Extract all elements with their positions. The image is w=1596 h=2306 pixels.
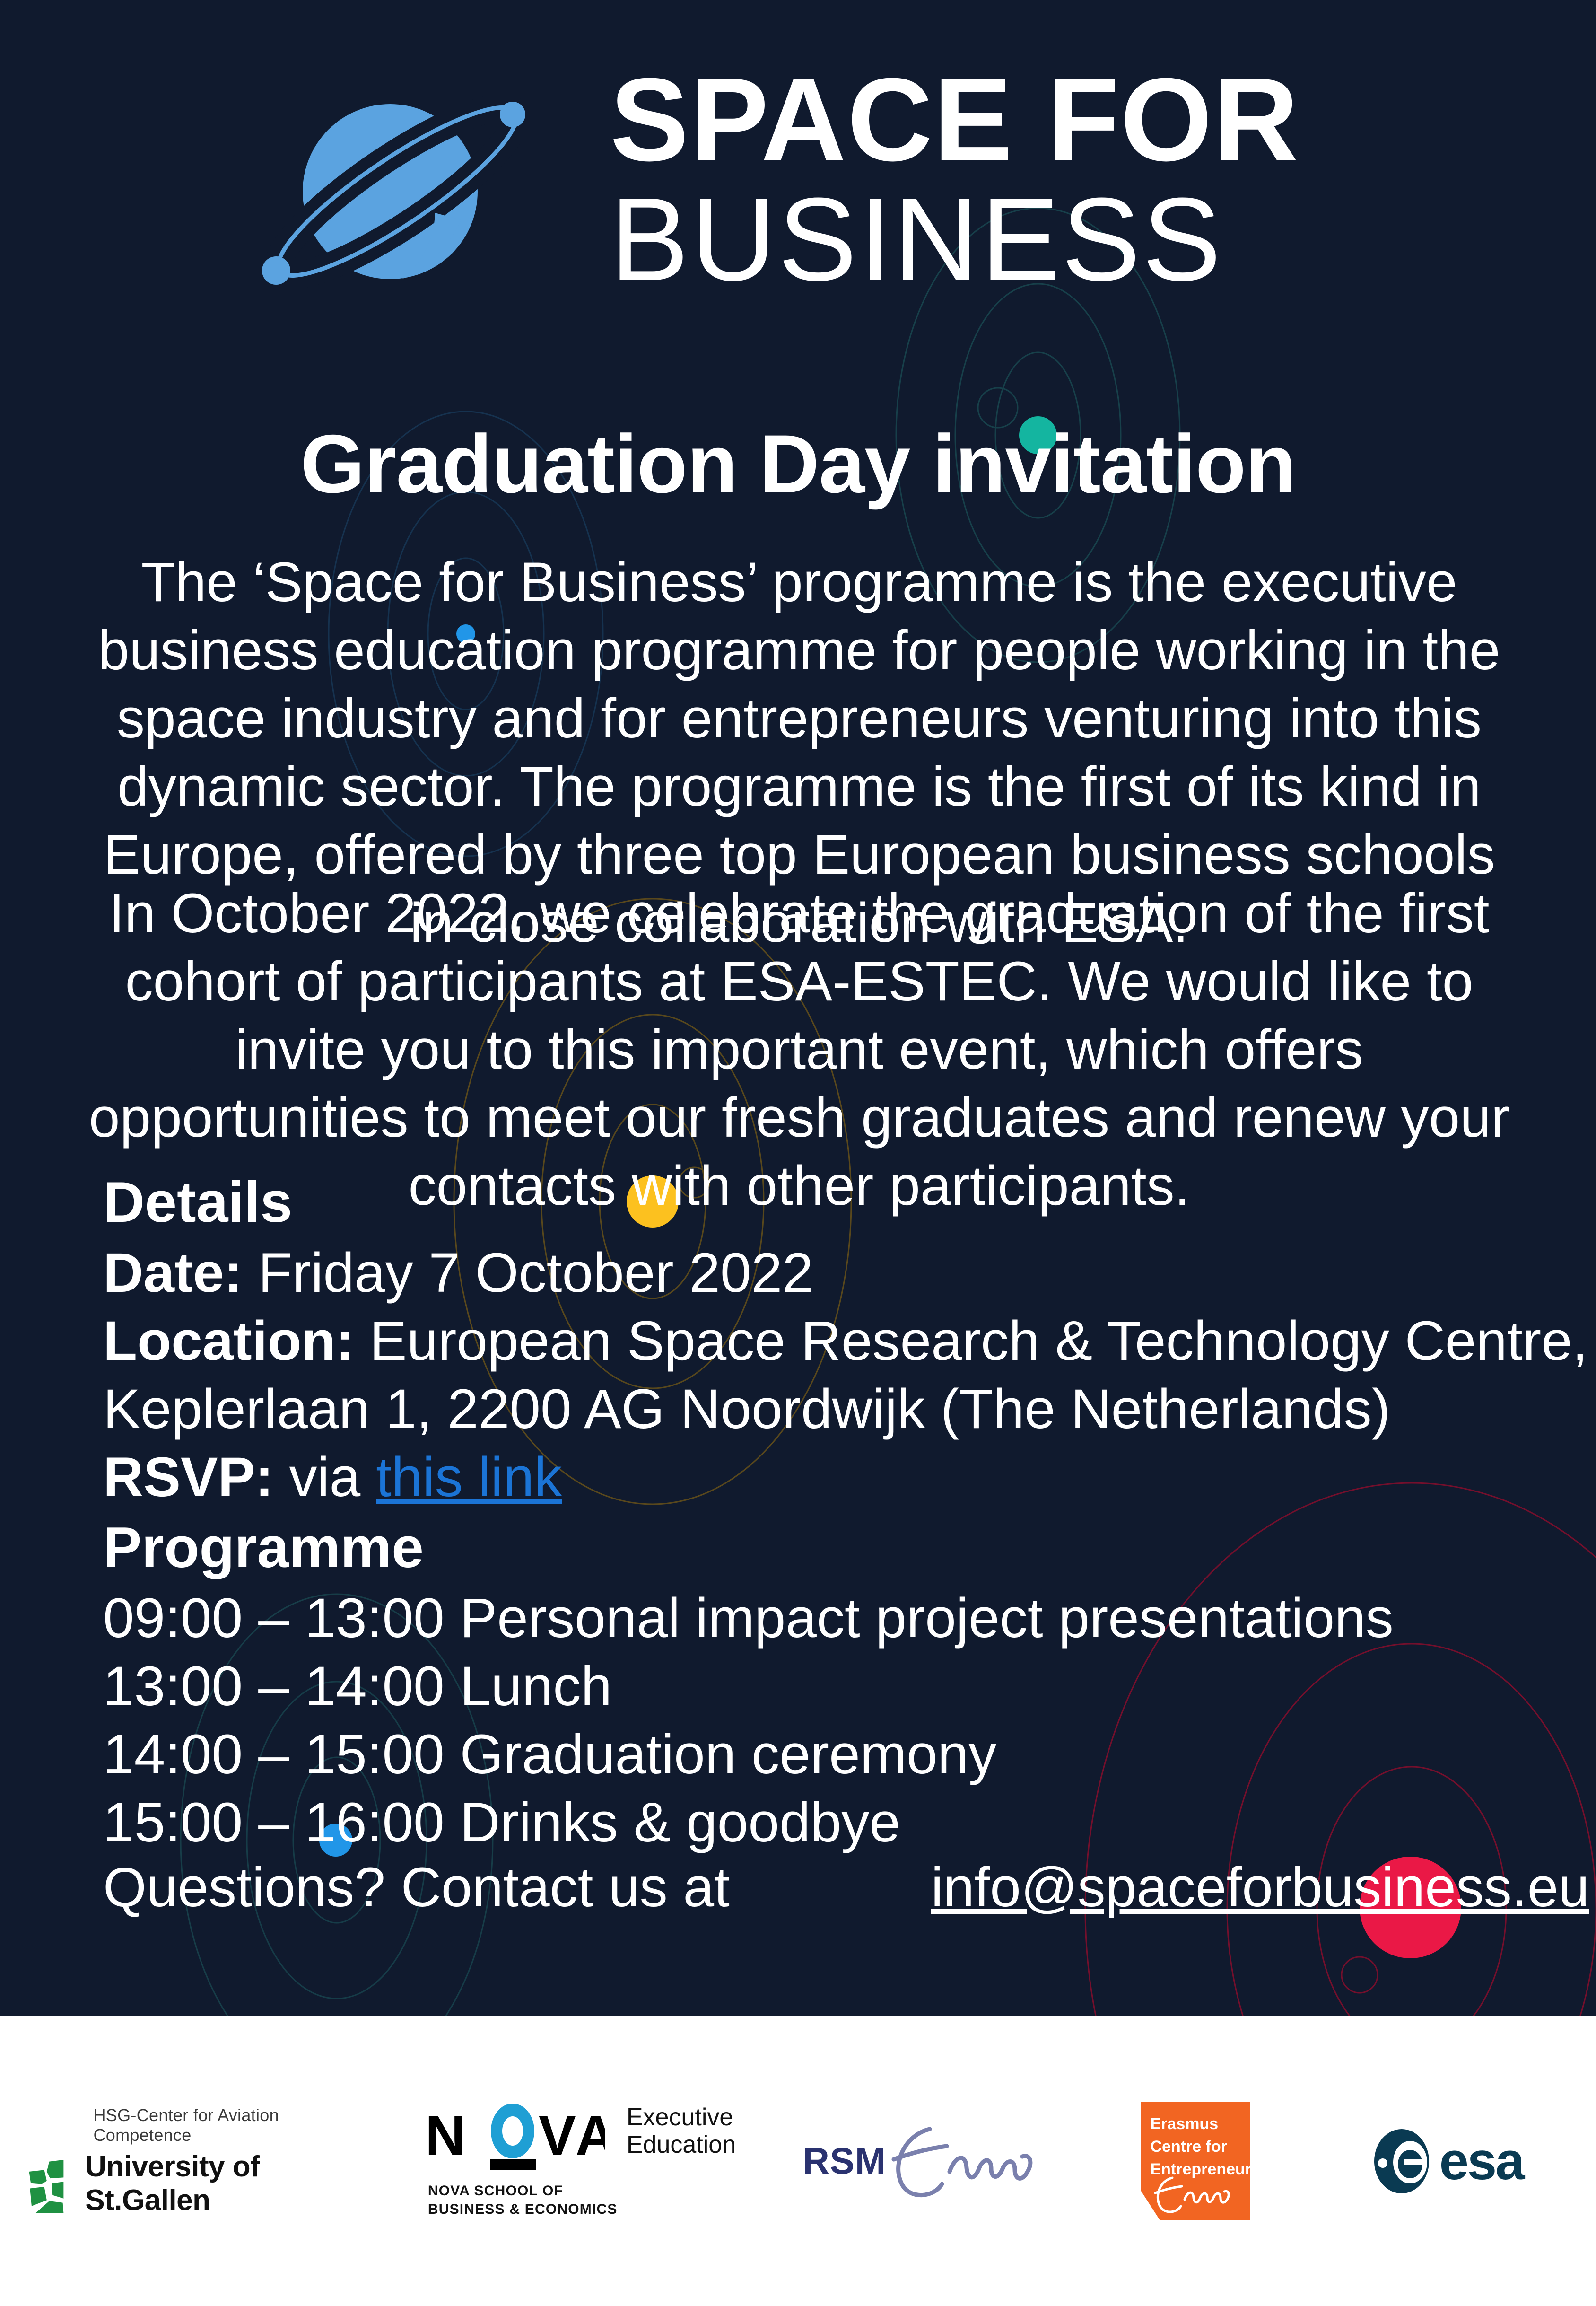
dark-background-panel: SPACE FOR BUSINESS Graduation Day invita… xyxy=(0,0,1596,2016)
ecfe-line-3: Entrepreneurship xyxy=(1151,2158,1284,2181)
programme-section: Programme 09:00 – 13:00 Personal impact … xyxy=(103,1514,1394,1857)
details-rsvp-row: RSVP: via this link xyxy=(103,1444,1588,1512)
st-gallen-bear-icon xyxy=(27,2156,77,2217)
contact-email-link[interactable]: info@spaceforbusiness.eu xyxy=(931,1856,1589,1919)
details-location-label: Location: xyxy=(103,1310,354,1372)
rsvp-link[interactable]: this link xyxy=(376,1446,562,1508)
brand-logo: SPACE FOR BUSINESS xyxy=(246,47,1381,331)
nova-sub-line-1: NOVA SCHOOL OF xyxy=(428,2182,736,2200)
details-section: Details Date: Friday 7 October 2022 Loca… xyxy=(103,1168,1588,1512)
brand-line-2: BUSINESS xyxy=(610,184,1299,295)
contact-prompt: Questions? Contact us at xyxy=(103,1856,730,1919)
programme-item: 09:00 – 13:00 Personal impact project pr… xyxy=(103,1585,1394,1653)
logo-esa: esa xyxy=(1323,2128,1569,2194)
logo-erasmus-centre-for-entrepreneurship: Erasmus Centre for Entrepreneurship xyxy=(1125,2102,1266,2220)
ecfe-line-1: Erasmus xyxy=(1151,2113,1284,2135)
logo-rsm-erasmus: RSM xyxy=(803,2119,1068,2204)
programme-item: 15:00 – 16:00 Drinks & goodbye xyxy=(103,1789,1394,1857)
details-rsvp-label: RSVP: xyxy=(103,1446,274,1508)
nova-wordmark-icon: N V A xyxy=(425,2104,605,2174)
hsg-name: University of St.Gallen xyxy=(85,2150,358,2217)
brand-line-1: SPACE FOR xyxy=(610,64,1299,175)
svg-text:V: V xyxy=(539,2104,576,2167)
nova-sub-line-2: BUSINESS & ECONOMICS xyxy=(428,2200,736,2218)
logo-university-of-st-gallen: HSG-Center for Aviation Competence Unive… xyxy=(27,2105,358,2217)
svg-text:N: N xyxy=(425,2104,465,2167)
programme-item: 13:00 – 14:00 Lunch xyxy=(103,1653,1394,1721)
svg-text:A: A xyxy=(576,2104,605,2167)
details-location-value: European Space Research & Technology Cen… xyxy=(370,1310,1588,1372)
details-date-row: Date: Friday 7 October 2022 xyxy=(103,1239,1588,1307)
nova-side-line-1: Executive xyxy=(627,2104,736,2131)
logo-nova-sbe: N V A Executive Education NOV xyxy=(415,2104,746,2218)
partner-logo-bar: HSG-Center for Aviation Competence Unive… xyxy=(0,2016,1596,2306)
esa-wordmark: esa xyxy=(1439,2135,1524,2188)
esa-globe-icon xyxy=(1369,2128,1435,2194)
programme-item: 14:00 – 15:00 Graduation ceremony xyxy=(103,1721,1394,1789)
page-title: Graduation Day invitation xyxy=(0,421,1596,508)
ecfe-line-2: Centre for xyxy=(1151,2135,1284,2158)
details-date-value: Friday 7 October 2022 xyxy=(258,1242,813,1304)
poster-root: SPACE FOR BUSINESS Graduation Day invita… xyxy=(0,0,1596,2306)
erasmus-script-icon xyxy=(886,2119,1042,2204)
details-location-value-2: Keplerlaan 1, 2200 AG Noordwijk (The Net… xyxy=(103,1378,1390,1440)
planet-orbit-icon xyxy=(246,57,549,322)
details-date-label: Date: xyxy=(103,1242,243,1304)
details-location-row-2: Keplerlaan 1, 2200 AG Noordwijk (The Net… xyxy=(103,1376,1588,1444)
details-rsvp-prefix: via xyxy=(289,1446,360,1508)
contact-row: Questions? Contact us at info@spaceforbu… xyxy=(103,1854,1589,1921)
details-location-row: Location: European Space Research & Tech… xyxy=(103,1307,1588,1376)
hsg-caption: HSG-Center for Aviation Competence xyxy=(94,2105,358,2145)
rsm-wordmark: RSM xyxy=(803,2139,886,2183)
nova-side-line-2: Education xyxy=(627,2131,736,2158)
programme-heading: Programme xyxy=(103,1514,1394,1582)
details-heading: Details xyxy=(103,1168,1588,1236)
